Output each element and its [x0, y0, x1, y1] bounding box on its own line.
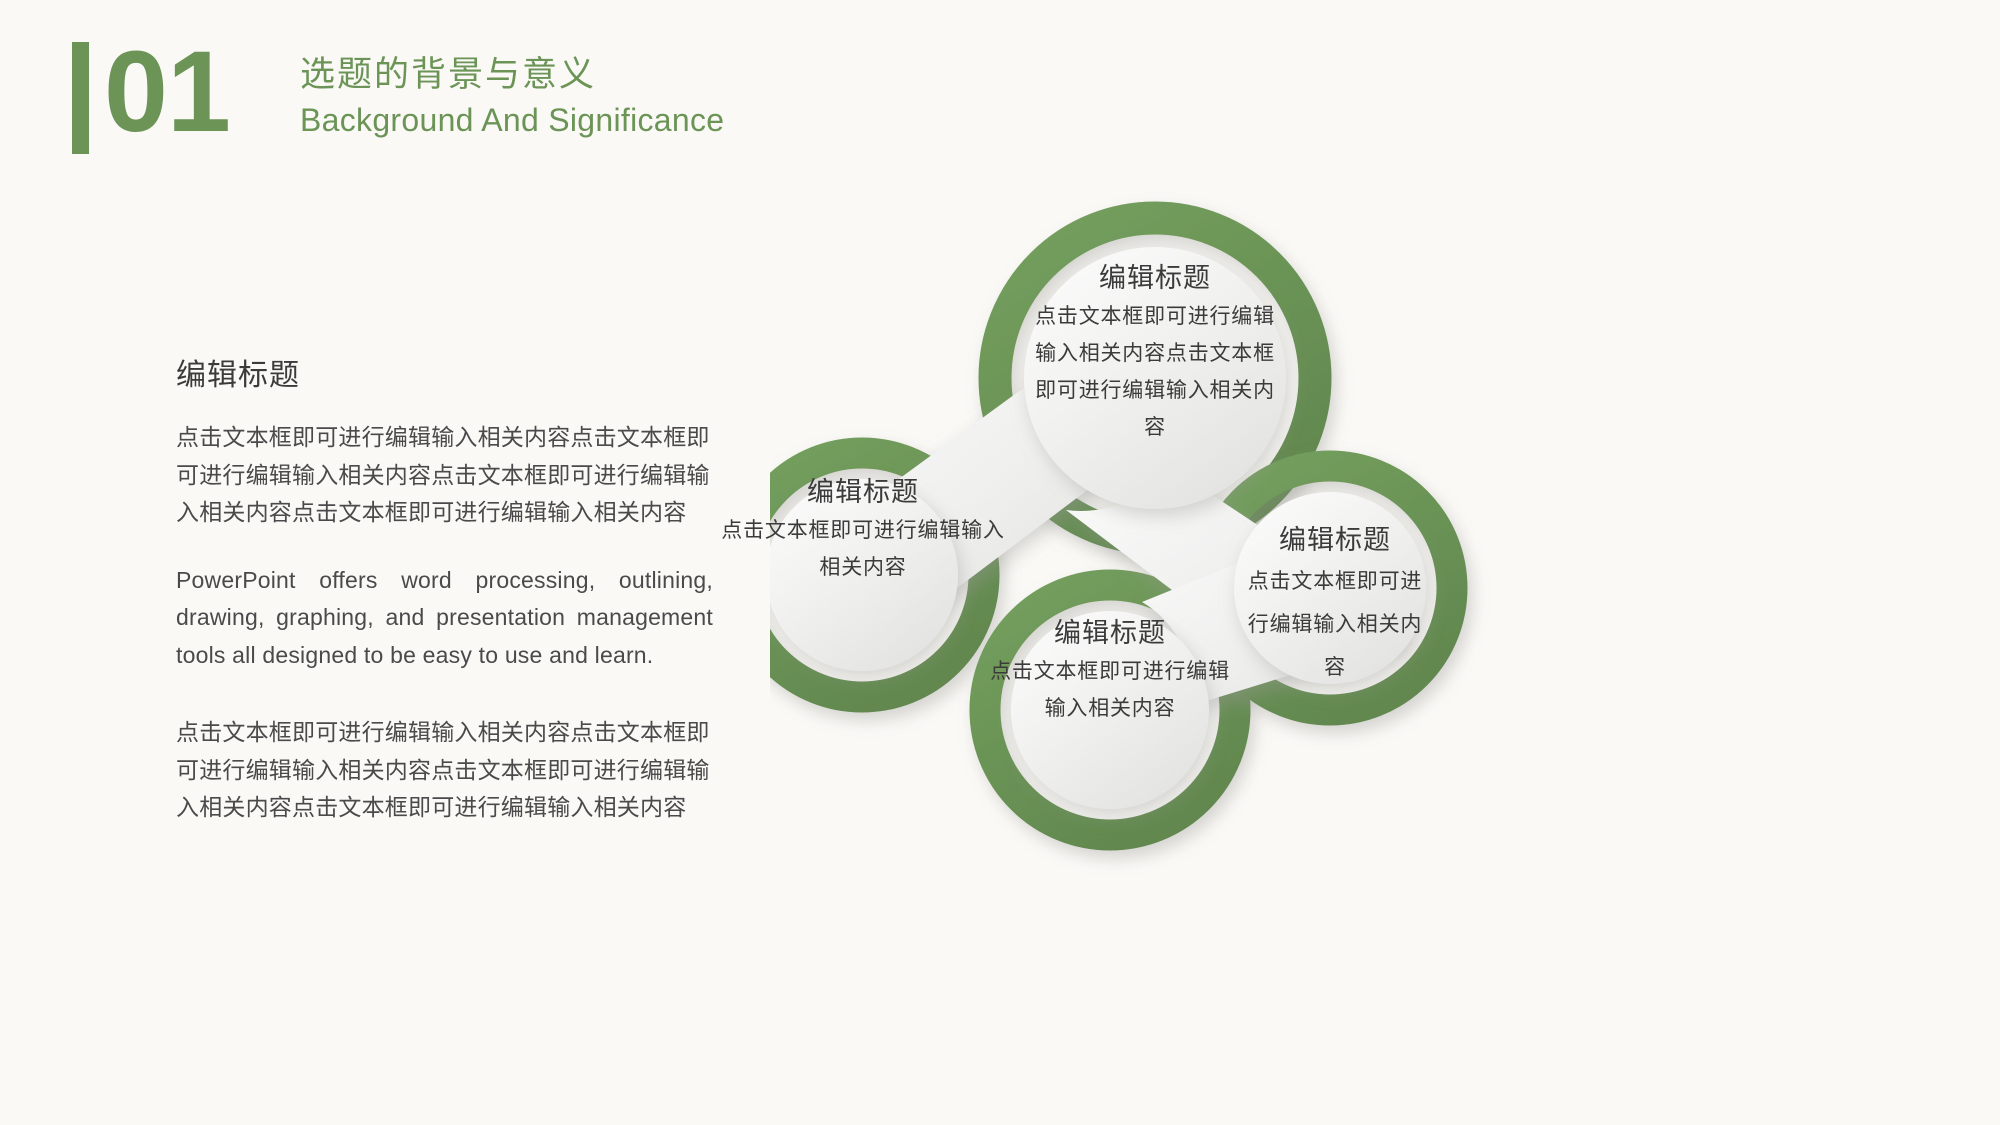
page-subtitle: Background And Significance — [300, 98, 724, 142]
left-paragraph-cn-2: 点击文本框即可进行编辑输入相关内容点击文本框即可进行编辑输入相关内容点击文本框即… — [176, 714, 716, 827]
circle-network-diagram: 编辑标题 点击文本框即可进行编辑输入相关内容点击文本框即可进行编辑输入相关内容 … — [770, 150, 1970, 1030]
page-title: 选题的背景与意义 — [300, 52, 724, 98]
left-paragraph-en: PowerPoint offers word processing, outli… — [176, 562, 713, 675]
node-bottom-body: 点击文本框即可进行编辑输入相关内容 — [980, 653, 1240, 727]
node-bottom-title: 编辑标题 — [980, 613, 1240, 653]
section-number-block: 01 — [72, 42, 230, 154]
left-text-column: 编辑标题 点击文本框即可进行编辑输入相关内容点击文本框即可进行编辑输入相关内容点… — [176, 355, 716, 827]
section-title-block: 选题的背景与意义 Background And Significance — [300, 52, 724, 142]
node-top[interactable]: 编辑标题 点击文本框即可进行编辑输入相关内容点击文本框即可进行编辑输入相关内容 — [1025, 258, 1285, 446]
node-bottom[interactable]: 编辑标题 点击文本框即可进行编辑输入相关内容 — [980, 613, 1240, 727]
node-right-title: 编辑标题 — [1245, 520, 1425, 560]
node-left-title: 编辑标题 — [718, 472, 1008, 512]
node-right-body: 点击文本框即可进行编辑输入相关内容 — [1245, 560, 1425, 689]
node-top-body: 点击文本框即可进行编辑输入相关内容点击文本框即可进行编辑输入相关内容 — [1025, 298, 1285, 446]
left-column-heading: 编辑标题 — [176, 355, 716, 397]
node-left-body: 点击文本框即可进行编辑输入相关内容 — [718, 512, 1008, 586]
slide-header: 01 选题的背景与意义 Background And Significance — [72, 42, 972, 162]
section-number: 01 — [104, 42, 230, 142]
node-right[interactable]: 编辑标题 点击文本框即可进行编辑输入相关内容 — [1245, 520, 1425, 689]
section-number-bar-icon — [72, 42, 89, 154]
node-top-title: 编辑标题 — [1025, 258, 1285, 298]
left-paragraph-cn-1: 点击文本框即可进行编辑输入相关内容点击文本框即可进行编辑输入相关内容点击文本框即… — [176, 419, 716, 532]
node-left[interactable]: 编辑标题 点击文本框即可进行编辑输入相关内容 — [718, 472, 1008, 586]
